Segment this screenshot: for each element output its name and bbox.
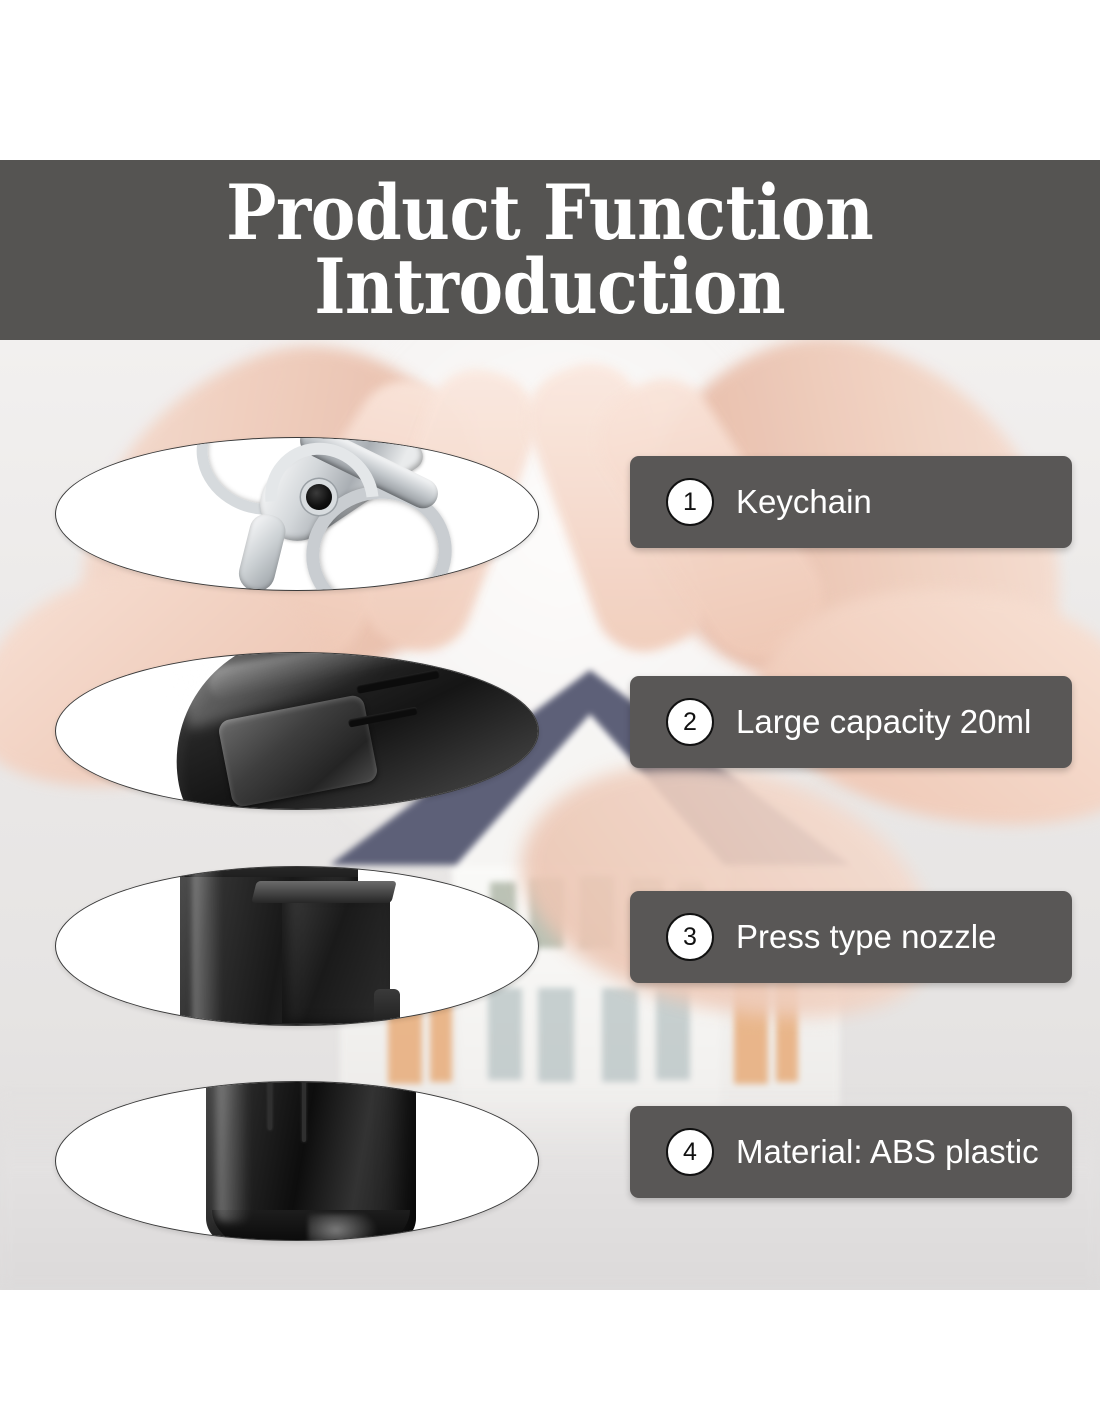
bottle-body-icon (56, 653, 538, 809)
callout-oval-nozzle (55, 866, 539, 1026)
callout-oval-material (55, 1081, 539, 1241)
clasp-lever (235, 511, 289, 591)
infographic-canvas: Product Function Introduction (0, 0, 1100, 1422)
callout-oval-keychain (55, 437, 539, 591)
feature-badge-2: 2 (666, 698, 714, 746)
base-shine (308, 1214, 378, 1241)
feature-label-3[interactable]: 3 Press type nozzle (630, 891, 1072, 983)
feature-label-text-3: Press type nozzle (736, 918, 996, 956)
base-highlight (216, 1081, 250, 1222)
nozzle-highlight (192, 866, 222, 1026)
feature-label-text-1: Keychain (736, 483, 872, 521)
clasp-rivet (306, 484, 332, 510)
feature-badge-3: 3 (666, 913, 714, 961)
header-banner: Product Function Introduction (0, 160, 1100, 340)
press-nozzle-icon (56, 867, 538, 1025)
feature-badge-1: 1 (666, 478, 714, 526)
bottle-base-icon (56, 1082, 538, 1240)
feature-label-text-2: Large capacity 20ml (736, 703, 1031, 741)
nozzle-lip (251, 881, 396, 903)
keychain-clasp-icon (56, 438, 538, 590)
nozzle-pin (374, 989, 400, 1026)
feature-label-text-4: Material: ABS plastic (736, 1133, 1039, 1171)
feature-label-1[interactable]: 1 Keychain (630, 456, 1072, 548)
feature-badge-4: 4 (666, 1128, 714, 1176)
base-groove (268, 1081, 272, 1130)
house-window (602, 988, 638, 1082)
house-window (538, 988, 574, 1082)
feature-label-4[interactable]: 4 Material: ABS plastic (630, 1106, 1072, 1198)
base-groove (302, 1081, 306, 1142)
page-title: Product Function Introduction (191, 176, 909, 323)
callout-oval-capacity (55, 652, 539, 810)
feature-label-2[interactable]: 2 Large capacity 20ml (630, 676, 1072, 768)
